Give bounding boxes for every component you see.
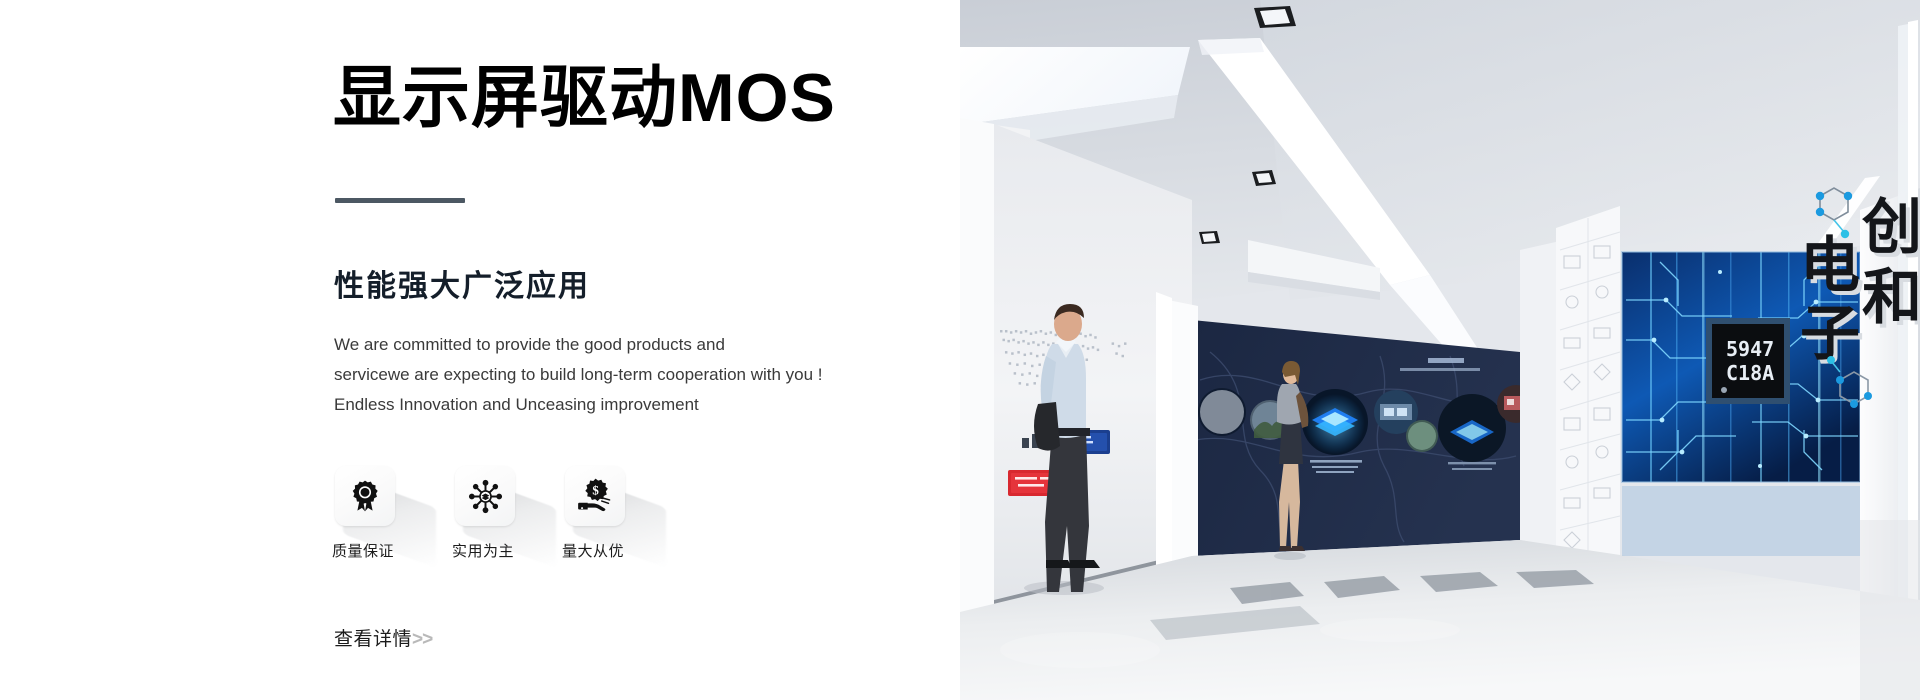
feature-item-quality[interactable]: 质量保证: [335, 466, 395, 526]
view-details-link[interactable]: 查看详情>>: [334, 624, 432, 651]
led-chip-line2: C18A: [1726, 361, 1774, 385]
title-divider: [335, 198, 465, 203]
feature-item-bulk-discount[interactable]: $ 量大从优: [565, 466, 625, 526]
showroom-photograph: 5947 C18A: [960, 0, 1920, 700]
hero-subtitle: 性能强大广泛应用: [334, 267, 590, 307]
hero-paragraph: We are committed to provide the good pro…: [334, 330, 823, 420]
award-medal-icon: [348, 479, 382, 513]
feature-icon-card[interactable]: [335, 466, 395, 526]
sign-char-he: 和: [1862, 263, 1920, 333]
page-title: 显示屏驱动MOS: [333, 57, 836, 139]
sign-char-dian: 电: [1800, 231, 1860, 301]
money-in-hand-icon: $: [577, 478, 613, 514]
sign-char-chuang: 创: [1862, 193, 1920, 263]
paragraph-line-2: servicewe are expecting to build long-te…: [334, 360, 823, 390]
feature-label: 量大从优: [562, 540, 624, 561]
chevron-right-double-icon: >>: [412, 629, 432, 650]
feature-icon-card[interactable]: [455, 466, 515, 526]
hero-banner: 显示屏驱动MOS 性能强大广泛应用 We are committed to pr…: [0, 0, 1920, 700]
hero-copy-panel: 显示屏驱动MOS 性能强大广泛应用 We are committed to pr…: [0, 0, 960, 700]
paragraph-line-1: We are committed to provide the good pro…: [334, 330, 823, 360]
network-hub-chip-icon: [468, 479, 503, 514]
feature-label: 质量保证: [332, 540, 394, 561]
led-chip-line1: 5947: [1726, 337, 1774, 361]
view-details-label: 查看详情: [334, 629, 412, 650]
svg-text:$: $: [592, 482, 599, 497]
feature-icon-card[interactable]: $: [565, 466, 625, 526]
feature-label: 实用为主: [452, 540, 514, 561]
paragraph-line-3: Endless Innovation and Unceasing improve…: [334, 390, 823, 420]
feature-item-practical[interactable]: 实用为主: [455, 466, 515, 526]
